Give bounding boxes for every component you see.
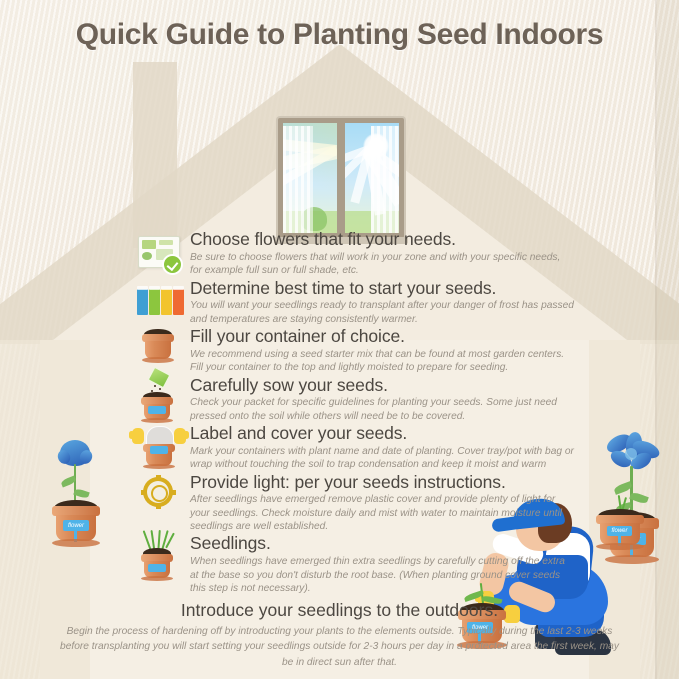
step-item: Provide light: per your seeds instructio… — [134, 473, 574, 534]
seed-packet — [148, 366, 171, 388]
step-heading: Carefully sow your seeds. — [190, 376, 574, 396]
window-pane-left — [283, 123, 337, 233]
gloves-covering-pot-icon — [130, 424, 188, 470]
step-heading: Label and cover your seeds. — [190, 424, 574, 444]
footer-body: Begin the process of hardening off by in… — [60, 624, 620, 670]
step-body: We recommend using a seed starter mix th… — [190, 348, 574, 375]
window-pane-right — [345, 123, 399, 233]
falling-seed — [159, 388, 161, 390]
calendar-header — [149, 286, 160, 290]
check-badge-icon — [162, 254, 183, 275]
step-body: Check your packet for specific guideline… — [190, 396, 574, 423]
step-item: Carefully sow your seeds. Check your pac… — [134, 376, 574, 424]
infographic-poster: Quick Guide to Planting Seed Indoors — [0, 0, 679, 679]
catalog-block — [142, 240, 156, 249]
filled-pot-icon — [134, 327, 184, 373]
step-item: Fill your container of choice. We recomm… — [134, 327, 574, 375]
calendar-panel-spring — [149, 289, 160, 315]
star-flower-center — [625, 448, 637, 460]
calendar-panel-fall — [173, 289, 184, 315]
page-title: Quick Guide to Planting Seed Indoors — [0, 18, 679, 52]
seed-packet-sowing-icon — [134, 370, 184, 426]
footer-section: Introduce your seedlings to the outdoors… — [0, 600, 679, 670]
step-item: Label and cover your seeds. Mark your co… — [134, 424, 574, 472]
step-heading: Provide light: per your seeds instructio… — [190, 473, 574, 493]
calendar-panel-winter — [137, 289, 148, 315]
glove-right-icon — [174, 428, 186, 444]
pot-tag — [150, 446, 168, 454]
curtain-left — [283, 126, 313, 233]
footer-heading: Introduce your seedlings to the outdoors… — [0, 600, 679, 621]
step-body: Mark your containers with plant name and… — [190, 445, 574, 472]
pot-tag — [148, 564, 166, 572]
pot-saucer — [596, 543, 644, 550]
step-body: Be sure to choose flowers that will work… — [190, 251, 574, 278]
four-season-calendar-icon — [134, 285, 184, 331]
pot-tag-label: flower — [63, 521, 89, 531]
sun-light-ring-icon — [134, 475, 184, 521]
falling-seed — [154, 385, 156, 387]
step-body: After seedlings have emerged remove plas… — [190, 493, 574, 533]
glove-left-icon — [132, 428, 144, 444]
steps-list: Choose flowers that fit your needs. Be s… — [134, 230, 574, 596]
step-body: When seedlings have emerged thin extra s… — [190, 555, 574, 595]
calendar-header — [161, 286, 172, 290]
pot-tag-label: flower — [607, 527, 632, 536]
seedling-pot-behind-gardener: flower — [590, 495, 650, 557]
step-body: You will want your seedlings ready to tr… — [190, 299, 574, 326]
pot-saucer — [141, 418, 173, 423]
step-item: Seedlings. When seedlings have emerged t… — [134, 534, 574, 595]
seed-catalog-icon — [134, 232, 184, 278]
step-item: Determine best time to start your seeds.… — [134, 279, 574, 327]
sunny-window-illustration — [278, 118, 404, 238]
step-heading: Fill your container of choice. — [190, 327, 574, 347]
sun-ring-spike — [171, 490, 176, 495]
pot-saucer — [143, 464, 175, 469]
calendar-panel-summer — [161, 289, 172, 315]
calendar-header — [173, 286, 184, 290]
catalog-block — [159, 240, 173, 245]
sun-ring-spike — [141, 490, 146, 495]
step-heading: Choose flowers that fit your needs. — [190, 230, 574, 250]
catalog-block — [142, 252, 152, 260]
step-item: Choose flowers that fit your needs. Be s… — [134, 230, 574, 278]
seedlings-pot-icon — [134, 530, 184, 586]
pot-saucer — [141, 576, 173, 581]
pot-tag — [148, 406, 166, 414]
step-heading: Determine best time to start your seeds. — [190, 279, 574, 299]
sun-ring-core — [151, 485, 168, 502]
pot-saucer — [52, 539, 100, 547]
calendar-header — [137, 286, 148, 290]
step-heading: Seedlings. — [190, 534, 574, 554]
curtain-right — [371, 126, 399, 233]
blue-bell-flower-pot: flower — [44, 420, 110, 550]
sun-ring-spike — [156, 475, 161, 480]
pot-saucer — [142, 357, 174, 363]
sun-ring-spike — [156, 504, 161, 509]
